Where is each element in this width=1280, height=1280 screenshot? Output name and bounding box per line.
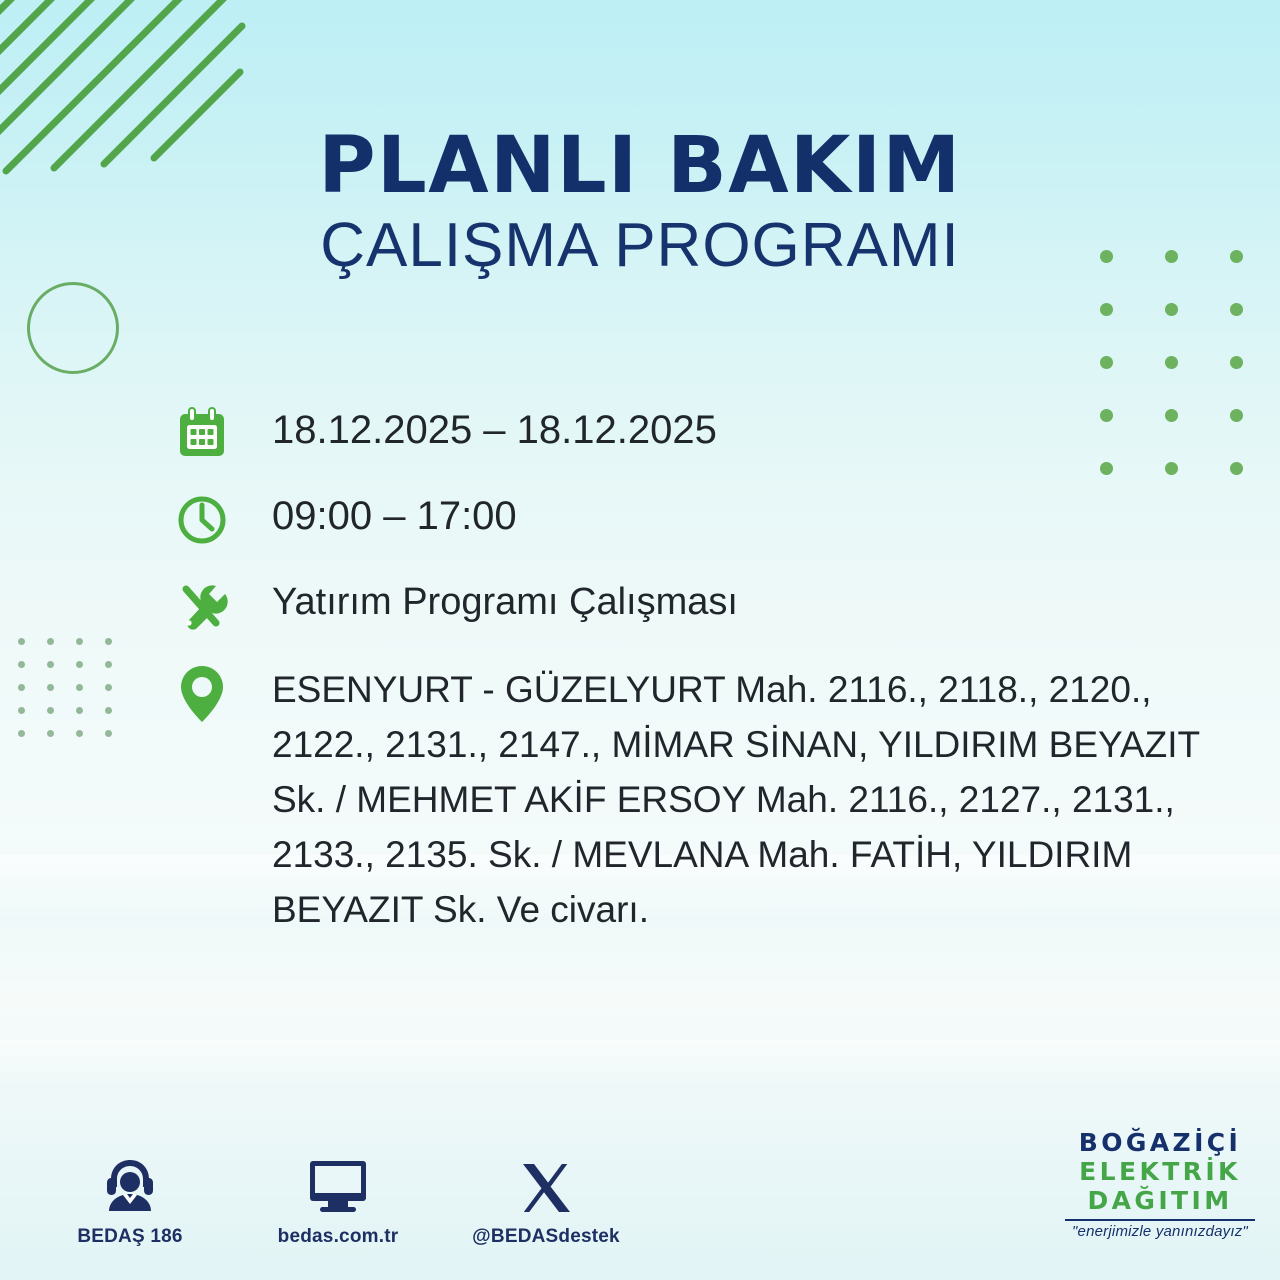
poster-heading: PLANLI BAKIM ÇALIŞMA PROGRAMI (0, 124, 1280, 280)
work-type-value: Yatırım Programı Çalışması (234, 576, 1246, 628)
contact-website-label: bedas.com.tr (264, 1226, 412, 1248)
monitor-icon (264, 1152, 412, 1216)
dot-grid-left-decoration (18, 638, 114, 734)
logo-tagline: "enerjimizle yanınızdayız" (1058, 1223, 1262, 1240)
info-row-work-type: Yatırım Programı Çalışması (176, 576, 1246, 640)
info-row-date: 18.12.2025 – 18.12.2025 (176, 404, 1246, 468)
clock-icon (176, 490, 234, 554)
info-row-location: ESENYURT - GÜZELYURT Mah. 2116., 2118., … (176, 662, 1246, 937)
location-pin-icon (176, 662, 234, 726)
footer-contacts: BEDAŞ 186 bedas.com.tr @BEDASdestek (56, 1152, 620, 1248)
circle-outline-decoration (27, 282, 119, 374)
logo-divider (1065, 1219, 1255, 1221)
page-title: PLANLI BAKIM (0, 124, 1280, 208)
tools-icon (176, 576, 234, 640)
contact-website[interactable]: bedas.com.tr (264, 1152, 412, 1248)
bedas-logo: BOĞAZİÇİ ELEKTRİK DAĞITIM "enerjimizle y… (1058, 1128, 1262, 1240)
maintenance-info-list: 18.12.2025 – 18.12.2025 09:00 – 17:00 (176, 404, 1246, 959)
contact-x-account-label: @BEDASdestek (472, 1226, 620, 1248)
x-twitter-icon (472, 1152, 620, 1216)
background-band-decoration-2 (0, 1040, 1280, 1080)
date-range-value: 18.12.2025 – 18.12.2025 (234, 404, 1246, 456)
logo-line-bogazici: BOĞAZİÇİ (1058, 1128, 1262, 1157)
time-range-value: 09:00 – 17:00 (234, 490, 1246, 542)
calendar-icon (176, 404, 234, 468)
contact-call-center-label: BEDAŞ 186 (56, 1226, 204, 1248)
contact-x-account[interactable]: @BEDASdestek (472, 1152, 620, 1248)
logo-line-dagitim: DAĞITIM (1058, 1186, 1262, 1215)
contact-call-center[interactable]: BEDAŞ 186 (56, 1152, 204, 1248)
affected-area-value: ESENYURT - GÜZELYURT Mah. 2116., 2118., … (234, 662, 1246, 937)
logo-line-elektrik: ELEKTRİK (1058, 1157, 1262, 1186)
planned-maintenance-poster: PLANLI BAKIM ÇALIŞMA PROGRAMI (0, 0, 1280, 1280)
headset-support-icon (56, 1152, 204, 1216)
page-subtitle: ÇALIŞMA PROGRAMI (0, 212, 1280, 280)
info-row-time: 09:00 – 17:00 (176, 490, 1246, 554)
